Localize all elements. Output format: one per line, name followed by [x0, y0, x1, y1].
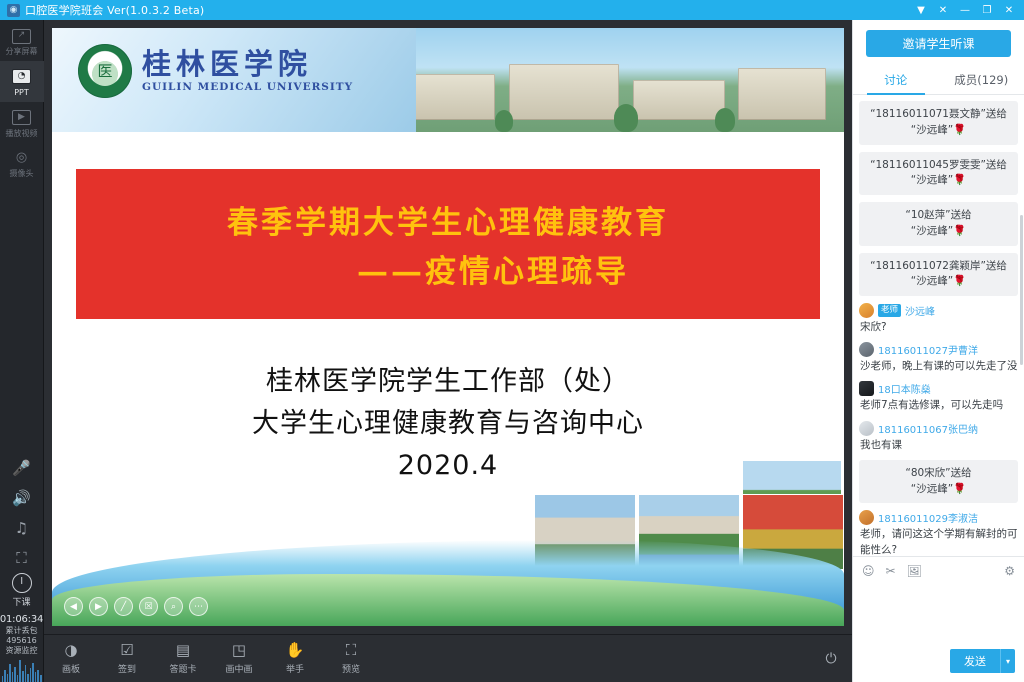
resource-monitor-label: 资源监控 [0, 646, 44, 656]
sparkline-bar [17, 675, 19, 682]
scissors-icon[interactable]: ✂ [886, 564, 896, 578]
send-button[interactable]: 发送 [950, 649, 1000, 673]
banner-campus-photo [385, 28, 844, 132]
sidebar-item-play-video[interactable]: ▶ 播放视频 [0, 102, 44, 143]
picture-in-picture-icon: ◳ [232, 642, 246, 659]
slide-canvas[interactable]: 桂林医学院 GUILIN MEDICAL UNIVERSITY 春季学期大学生心… [52, 28, 844, 626]
rose-icon: 🌹 [953, 174, 966, 186]
brand-name-en: GUILIN MEDICAL UNIVERSITY [142, 81, 353, 93]
microphone-icon[interactable]: 🎤 [0, 453, 44, 483]
gift-to: “沙远峰” [911, 124, 953, 136]
sparkline-bar [7, 674, 9, 682]
chat-message: 18116011027尹曹洋 沙老师，晚上有课的可以先走了没 [859, 342, 1018, 374]
chat-message: 18口本陈燊 老师7点有选修课，可以先走吗 [859, 381, 1018, 413]
slide-banner: 桂林医学院 GUILIN MEDICAL UNIVERSITY [52, 28, 844, 132]
brand-name-cn: 桂林医学院 [142, 49, 353, 79]
sidebar-item-camera[interactable]: ◎ 摄像头 [0, 142, 44, 183]
delete-slide-button[interactable]: ☒ [139, 597, 158, 616]
more-options-button[interactable]: ⋯ [189, 597, 208, 616]
chat-message: 18116011067张巴纳 我也有课 [859, 421, 1018, 453]
gift-to: “沙远峰” [911, 225, 953, 237]
music-icon[interactable]: ♫ [0, 513, 44, 543]
gift-to: “沙远峰” [911, 483, 953, 495]
sparkline-bar [14, 667, 16, 682]
slide-navigation: ◀ ▶ ╱ ☒ ⌕ ⋯ [64, 597, 208, 616]
rose-icon: 🌹 [953, 225, 966, 237]
send-options-caret-icon[interactable]: ▾ [1000, 649, 1015, 673]
sparkline-bar [32, 663, 34, 682]
sidebar-item-ppt[interactable]: ◔ PPT [0, 61, 44, 102]
invite-section: 邀请学生听课 [853, 20, 1024, 65]
avatar [859, 342, 874, 357]
slide-body-line3: 2020.4 [52, 445, 844, 487]
message-text: 我也有课 [859, 438, 1018, 453]
sparkline-bar [12, 672, 14, 682]
right-panel: 邀请学生听课 讨论 成员(129) “18116011071聂文静”送给 “沙远… [852, 20, 1024, 682]
palette-icon: ◑ [64, 642, 77, 659]
sparkline-bar [30, 668, 32, 682]
packet-loss-value: 495616 [0, 636, 44, 646]
chevron-down-icon[interactable]: ▼ [910, 1, 932, 20]
slide-body: 桂林医学院学生工作部（处） 大学生心理健康教育与咨询中心 2020.4 [52, 361, 844, 487]
message-username: 18116011029李淑洁 [878, 510, 978, 525]
gift-message: “18116011045罗雯雯”送给 “沙远峰”🌹 [859, 152, 1018, 196]
sparkline-bar [9, 664, 11, 682]
gift-message: “10赵萍”送给 “沙远峰”🌹 [859, 202, 1018, 246]
tool-preview[interactable]: ⛶ 预览 [334, 642, 368, 675]
sparkline-bar [40, 675, 42, 682]
tool-label-pip: 画中画 [225, 662, 252, 675]
answer-card-icon: ▤ [176, 642, 190, 659]
sidebar-label-share-screen: 分享屏幕 [6, 48, 38, 57]
send-row: 发送 ▾ [853, 645, 1024, 682]
message-list-scrollbar[interactable] [1020, 215, 1023, 365]
minimize-icon[interactable]: — [954, 1, 976, 20]
prev-slide-button[interactable]: ◀ [64, 597, 83, 616]
gift-from: “18116011045罗雯雯”送给 [866, 158, 1011, 174]
rose-icon: 🌹 [953, 275, 966, 287]
title-bar: ◉ 口腔医学院班会 Ver(1.0.3.2 Beta) ▼ ✕ — ❐ ✕ [0, 0, 1024, 20]
slide-title-line2: ——疫情心理疏导 [267, 246, 629, 291]
tool-answer-card[interactable]: ▤ 答题卡 [166, 642, 200, 675]
image-icon[interactable]: 🖼 [907, 564, 922, 578]
connection-stats: 01:06:34 累计丢包 495616 资源监控 [0, 610, 44, 659]
sidebar-label-ppt: PPT [14, 89, 29, 98]
gift-from: “80宋欣”送给 [866, 466, 1011, 482]
gift-to: “沙远峰” [911, 275, 953, 287]
message-username: 18116011027尹曹洋 [878, 342, 978, 357]
power-icon[interactable]: ⏻ [820, 648, 842, 670]
chat-message: 老师 沙远峰 宋欣? [859, 303, 1018, 335]
composer-toolbar: ☺ ✂ 🖼 ⚙ [853, 556, 1024, 583]
rose-icon: 🌹 [953, 124, 966, 136]
gift-to: “沙远峰” [911, 174, 953, 186]
sparkline-bar [4, 670, 6, 682]
sparkline-bar [22, 671, 24, 682]
avatar [859, 421, 874, 436]
gift-message: “80宋欣”送给 “沙远峰”🌹 [859, 460, 1018, 504]
sparkline-bar [37, 670, 39, 682]
message-text: 沙老师，晚上有课的可以先走了没 [859, 359, 1018, 374]
app-logo-icon: ◉ [7, 4, 20, 17]
sparkline-bar [25, 665, 27, 682]
gift-message: “18116011072龚颖岸”送给 “沙远峰”🌹 [859, 253, 1018, 297]
avatar [859, 510, 874, 525]
tool-label-preview: 预览 [342, 662, 360, 675]
tool-label-whiteboard: 画板 [62, 662, 80, 675]
bottom-toolbar: ◑ 画板 ☑ 签到 ▤ 答题卡 ◳ 画中画 ✋ 举手 ⛶ 预览 ⏻ [44, 634, 852, 682]
pen-tool-button[interactable]: ╱ [114, 597, 133, 616]
tab-discussion[interactable]: 讨论 [853, 65, 939, 94]
message-input[interactable] [862, 583, 1015, 645]
sidebar-item-share-screen[interactable]: ↗ 分享屏幕 [0, 20, 44, 61]
message-text: 老师7点有选修课，可以先走吗 [859, 398, 1018, 413]
message-text: 宋欣? [859, 320, 1018, 335]
play-slide-button[interactable]: ▶ [89, 597, 108, 616]
preview-icon: ⛶ [346, 642, 357, 659]
sidebar-label-play-video: 播放视频 [6, 130, 38, 139]
presentation-stage: 桂林医学院 GUILIN MEDICAL UNIVERSITY 春季学期大学生心… [44, 20, 852, 634]
session-timer: 01:06:34 [0, 614, 44, 627]
raise-hand-icon: ✋ [286, 642, 305, 659]
tool-checkin[interactable]: ☑ 签到 [110, 642, 144, 675]
tab-members[interactable]: 成员(129) [939, 65, 1024, 94]
tool-pip[interactable]: ◳ 画中画 [222, 642, 256, 675]
emoji-icon[interactable]: ☺ [862, 564, 875, 578]
ppt-icon: ◔ [11, 67, 33, 87]
resource-sparkline [2, 660, 42, 682]
packet-loss-label: 累计丢包 [0, 626, 44, 636]
speaker-icon[interactable]: 🔊 [0, 483, 44, 513]
app-title: 口腔医学院班会 Ver(1.0.3.2 Beta) [25, 2, 204, 18]
panel-tabs: 讨论 成员(129) [853, 65, 1024, 95]
gift-message: “18116011071聂文静”送给 “沙远峰”🌹 [859, 101, 1018, 145]
end-class-label: 下课 [12, 595, 30, 608]
tool-raise-hand[interactable]: ✋ 举手 [278, 642, 312, 675]
gift-from: “18116011071聂文静”送给 [866, 107, 1011, 123]
gift-from: “10赵萍”送给 [866, 208, 1011, 224]
share-screen-icon: ↗ [11, 26, 33, 46]
end-class-button[interactable]: 下课 [0, 573, 44, 610]
sparkline-bar [27, 674, 29, 682]
invite-students-button[interactable]: 邀请学生听课 [866, 30, 1011, 57]
tool-label-checkin: 签到 [118, 662, 136, 675]
avatar [859, 381, 874, 396]
left-toolbar: ↗ 分享屏幕 ◔ PPT ▶ 播放视频 ◎ 摄像头 🎤 🔊 ♫ ⛶ 下课 01:… [0, 20, 44, 682]
slide-title-line1: 春季学期大学生心理健康教育 [227, 197, 669, 242]
tool-label-raise-hand: 举手 [286, 662, 304, 675]
message-username: 18口本陈燊 [878, 381, 931, 396]
composer[interactable] [853, 583, 1024, 645]
maximize-icon[interactable]: ❐ [976, 1, 998, 20]
slide-title-band: 春季学期大学生心理健康教育 ——疫情心理疏导 [76, 169, 820, 319]
university-crest-icon [78, 44, 132, 98]
camera-icon: ◎ [11, 148, 33, 168]
play-video-icon: ▶ [11, 108, 33, 128]
settings-gear-icon[interactable]: ⚙ [1004, 564, 1015, 578]
sparkline-bar [2, 676, 4, 682]
rose-icon: 🌹 [953, 483, 966, 495]
gift-from: “18116011072龚颖岸”送给 [866, 259, 1011, 275]
power-circle-icon [12, 573, 32, 593]
chat-message: 18116011029李淑洁 老师，请问这这个学期有解封的可能性么? [859, 510, 1018, 556]
close-icon[interactable]: ✕ [998, 1, 1020, 20]
avatar [859, 303, 874, 318]
message-username: 18116011067张巴纳 [878, 421, 978, 436]
message-text: 老师，请问这这个学期有解封的可能性么? [859, 527, 1018, 556]
tool-whiteboard[interactable]: ◑ 画板 [54, 642, 88, 675]
slide-body-line1: 桂林医学院学生工作部（处） [52, 361, 844, 403]
message-list[interactable]: “18116011071聂文静”送给 “沙远峰”🌹 “18116011045罗雯… [853, 95, 1024, 556]
message-username: 沙远峰 [905, 303, 935, 318]
zoom-slide-button[interactable]: ⌕ [164, 597, 183, 616]
checkin-icon: ☑ [120, 642, 133, 659]
fullscreen-icon[interactable]: ⛶ [0, 543, 44, 573]
slide-body-line2: 大学生心理健康教育与咨询中心 [52, 403, 844, 445]
sparkline-bar [19, 660, 21, 682]
tool-label-answer-card: 答题卡 [169, 662, 196, 675]
sparkline-bar [35, 672, 37, 682]
sidebar-label-camera: 摄像头 [10, 170, 34, 179]
application-window: ◉ 口腔医学院班会 Ver(1.0.3.2 Beta) ▼ ✕ — ❐ ✕ ↗ … [0, 0, 1024, 682]
teacher-badge: 老师 [878, 304, 901, 316]
pin-icon[interactable]: ✕ [932, 1, 954, 20]
university-brand: 桂林医学院 GUILIN MEDICAL UNIVERSITY [78, 44, 353, 98]
